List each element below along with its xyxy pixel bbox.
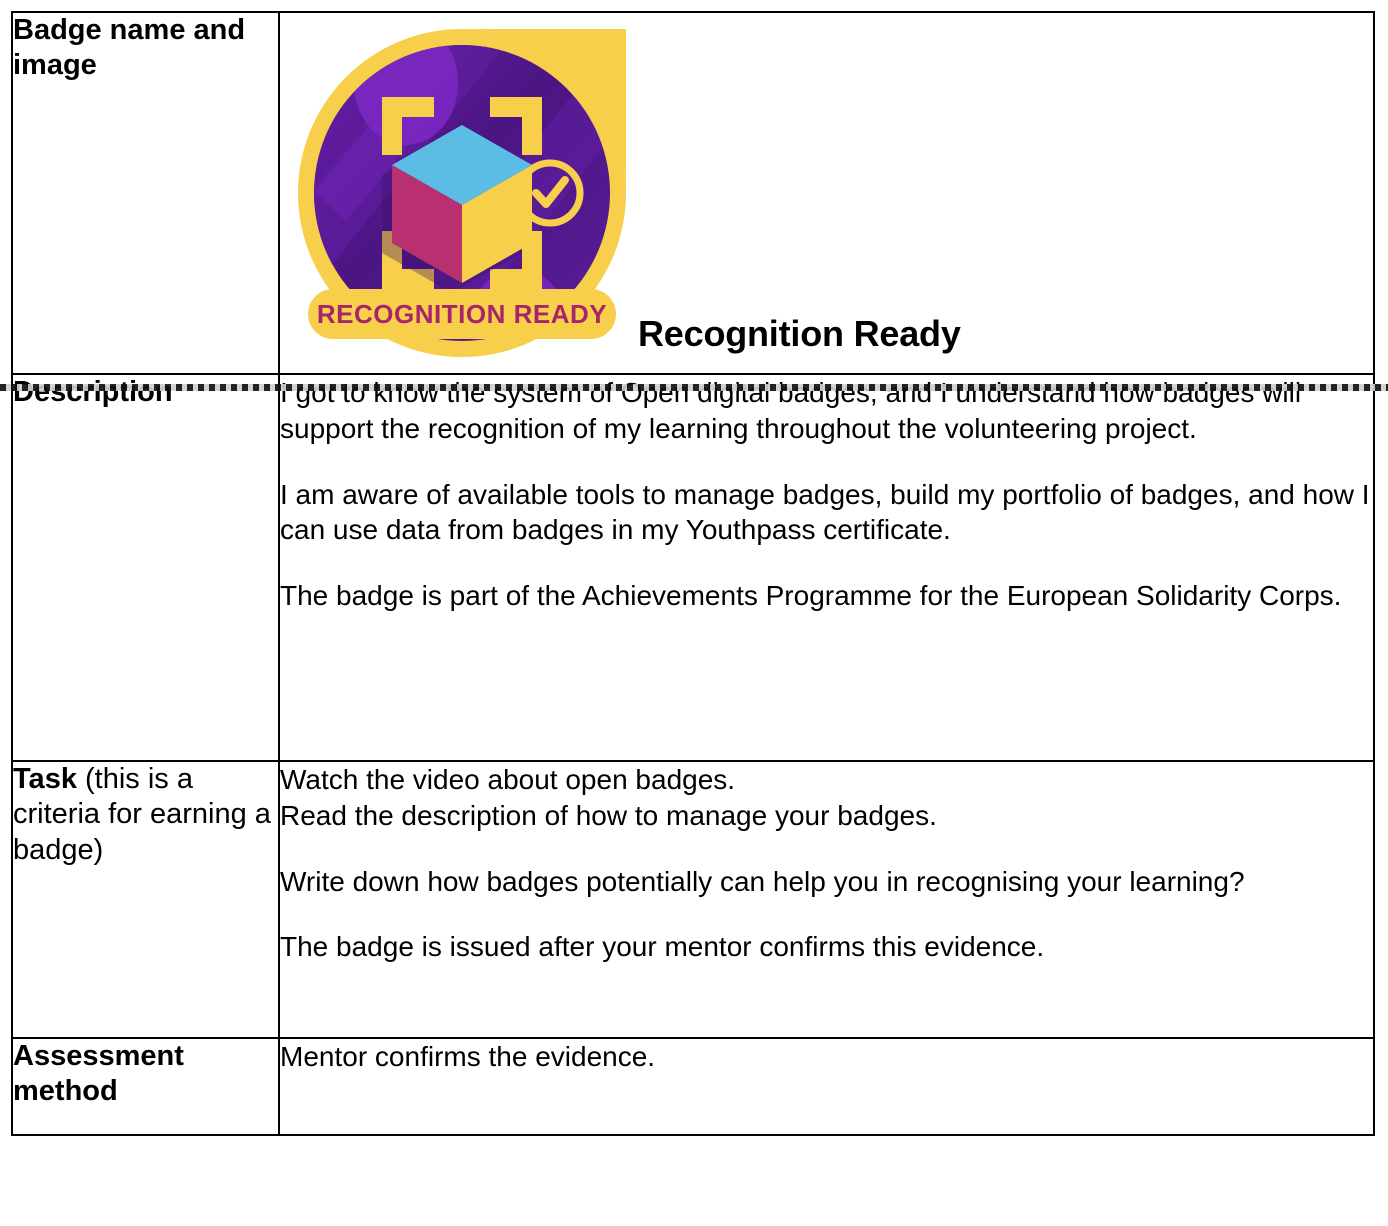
task-paragraph-2: The badge is issued after your mentor co… <box>280 929 1373 965</box>
row-content-badge: RECOGNITION READY Recognition Ready <box>279 12 1374 374</box>
badge-ribbon-text: RECOGNITION READY <box>317 299 607 329</box>
description-paragraph-2: I am aware of available tools to manage … <box>280 477 1373 549</box>
row-content-description: I got to know the system of Open digital… <box>279 374 1374 761</box>
description-paragraph-3: The badge is part of the Achievements Pr… <box>280 578 1373 614</box>
task-line-1: Watch the video about open badges. <box>280 762 1373 798</box>
table-row-task: Task (this is a criteria for earning a b… <box>12 761 1374 1038</box>
row-label-task-bold: Task <box>13 763 77 795</box>
table-row-assessment: Assessment method Mentor confirms the ev… <box>12 1038 1374 1135</box>
description-paragraph-1: I got to know the system of Open digital… <box>280 375 1373 447</box>
row-label-assessment-method: Assessment method <box>12 1038 279 1135</box>
assessment-paragraph-1: Mentor confirms the evidence. <box>280 1039 1373 1075</box>
row-content-assessment: Mentor confirms the evidence. <box>279 1038 1374 1135</box>
task-paragraph-1: Write down how badges potentially can he… <box>280 864 1373 900</box>
row-label-badge-name-and-image: Badge name and image <box>12 12 279 374</box>
row-label-task: Task (this is a criteria for earning a b… <box>12 761 279 1038</box>
table-row-description: Description I got to know the system of … <box>12 374 1374 761</box>
recognition-ready-badge-icon: RECOGNITION READY <box>286 21 638 373</box>
table-row-badge: Badge name and image <box>12 12 1374 374</box>
badge-specification-table: Badge name and image <box>11 11 1375 1136</box>
badge-title: Recognition Ready <box>638 313 961 355</box>
task-line-2: Read the description of how to manage yo… <box>280 798 1373 834</box>
row-label-description: Description <box>12 374 279 761</box>
row-content-task: Watch the video about open badges. Read … <box>279 761 1374 1038</box>
